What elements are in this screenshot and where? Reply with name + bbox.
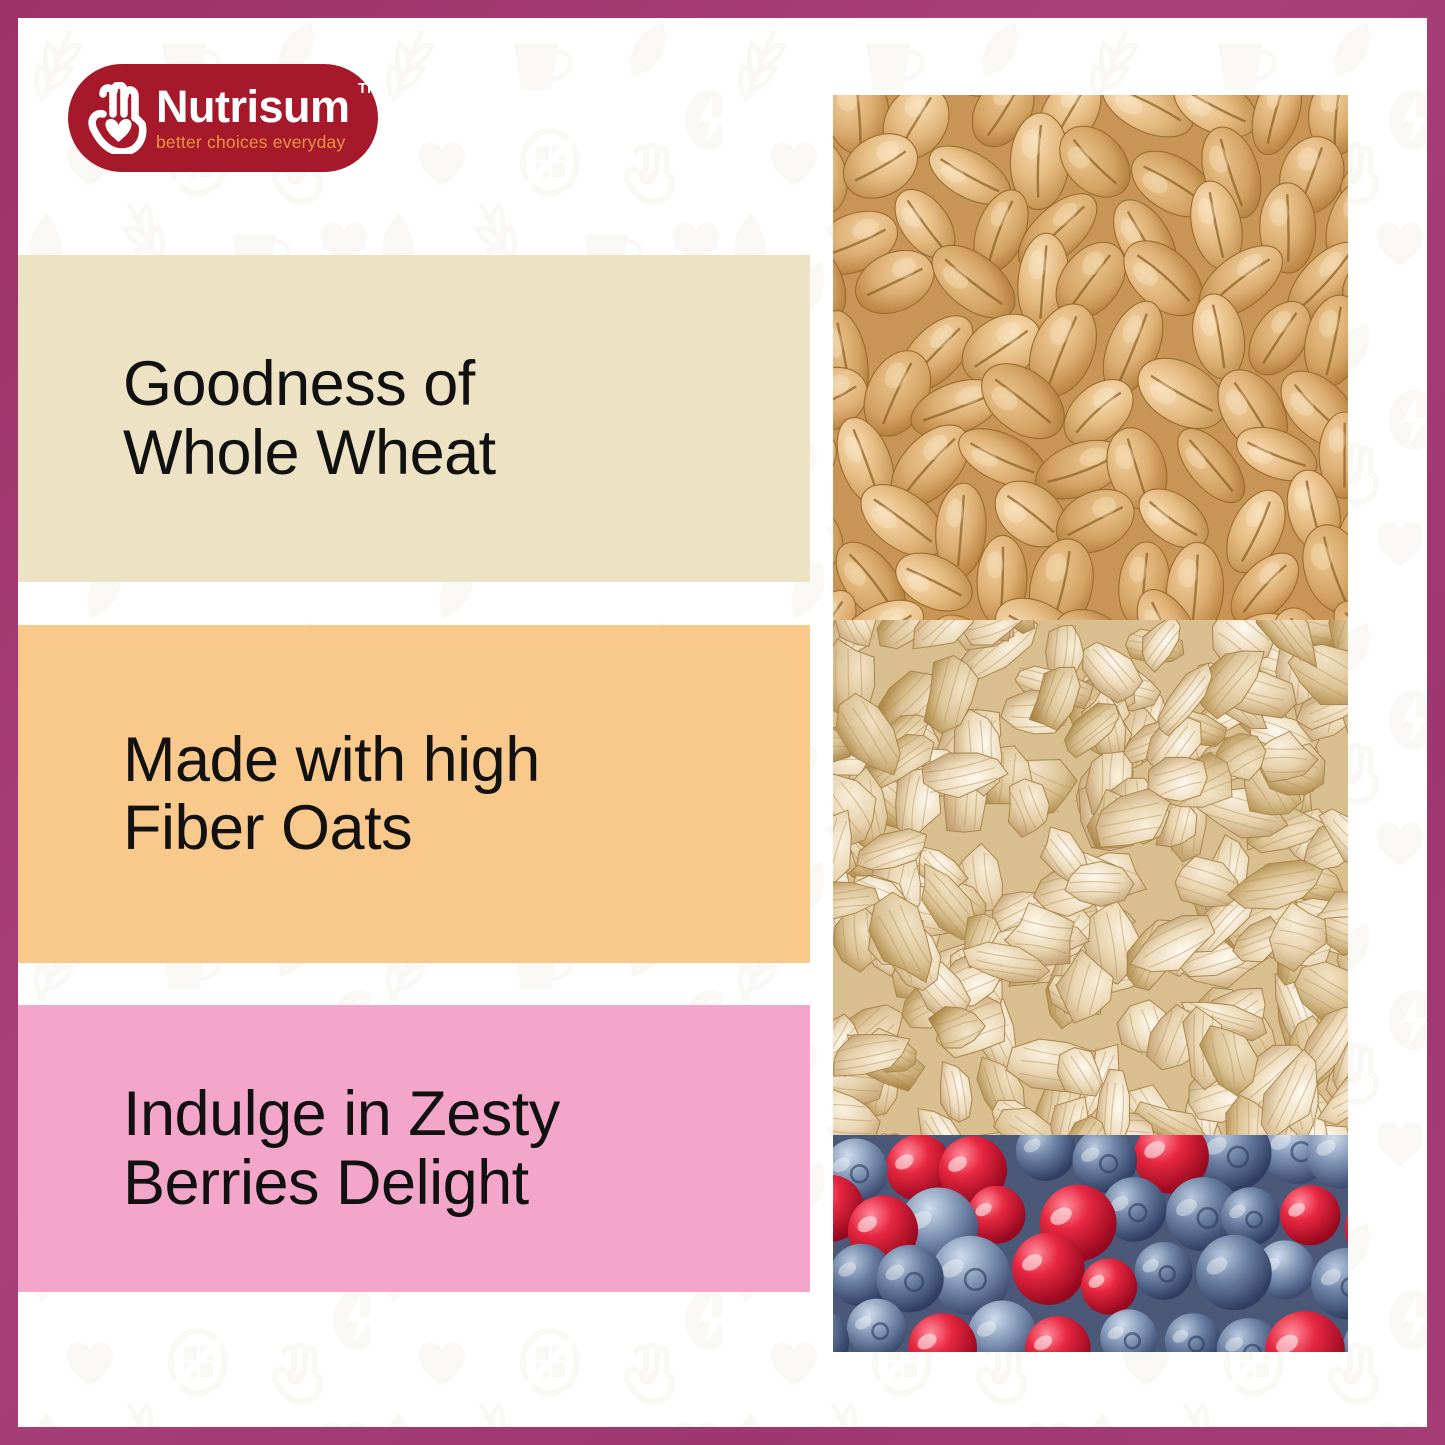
feature-band-whole-wheat-text: Goodness of Whole Wheat [123,350,496,486]
feature-band-zesty-berries: Indulge in Zesty Berries Delight [18,1005,810,1292]
trademark-symbol: TM [358,80,380,97]
brand-tagline: better choices everyday [156,132,350,153]
photo-segment-wheat-grains [833,95,1348,620]
photo-segment-rolled-oats [833,620,1348,1135]
poster-canvas: Nutrisum TM better choices everyday Good… [18,18,1427,1427]
brand-logo-text: Nutrisum TM better choices everyday [156,84,350,153]
feature-band-fiber-oats: Made with high Fiber Oats [18,625,810,963]
feature-band-fiber-oats-text: Made with high Fiber Oats [123,726,540,862]
brand-logo[interactable]: Nutrisum TM better choices everyday [68,64,378,172]
ingredient-photo-strip [833,95,1348,1352]
brand-name: Nutrisum [156,84,350,129]
poster-frame: Nutrisum TM better choices everyday Good… [0,0,1445,1445]
feature-band-whole-wheat: Goodness of Whole Wheat [18,255,810,582]
ok-hand-heart-icon [88,82,150,154]
photo-segment-mixed-berries [833,1135,1348,1352]
feature-band-zesty-berries-text: Indulge in Zesty Berries Delight [123,1080,560,1216]
